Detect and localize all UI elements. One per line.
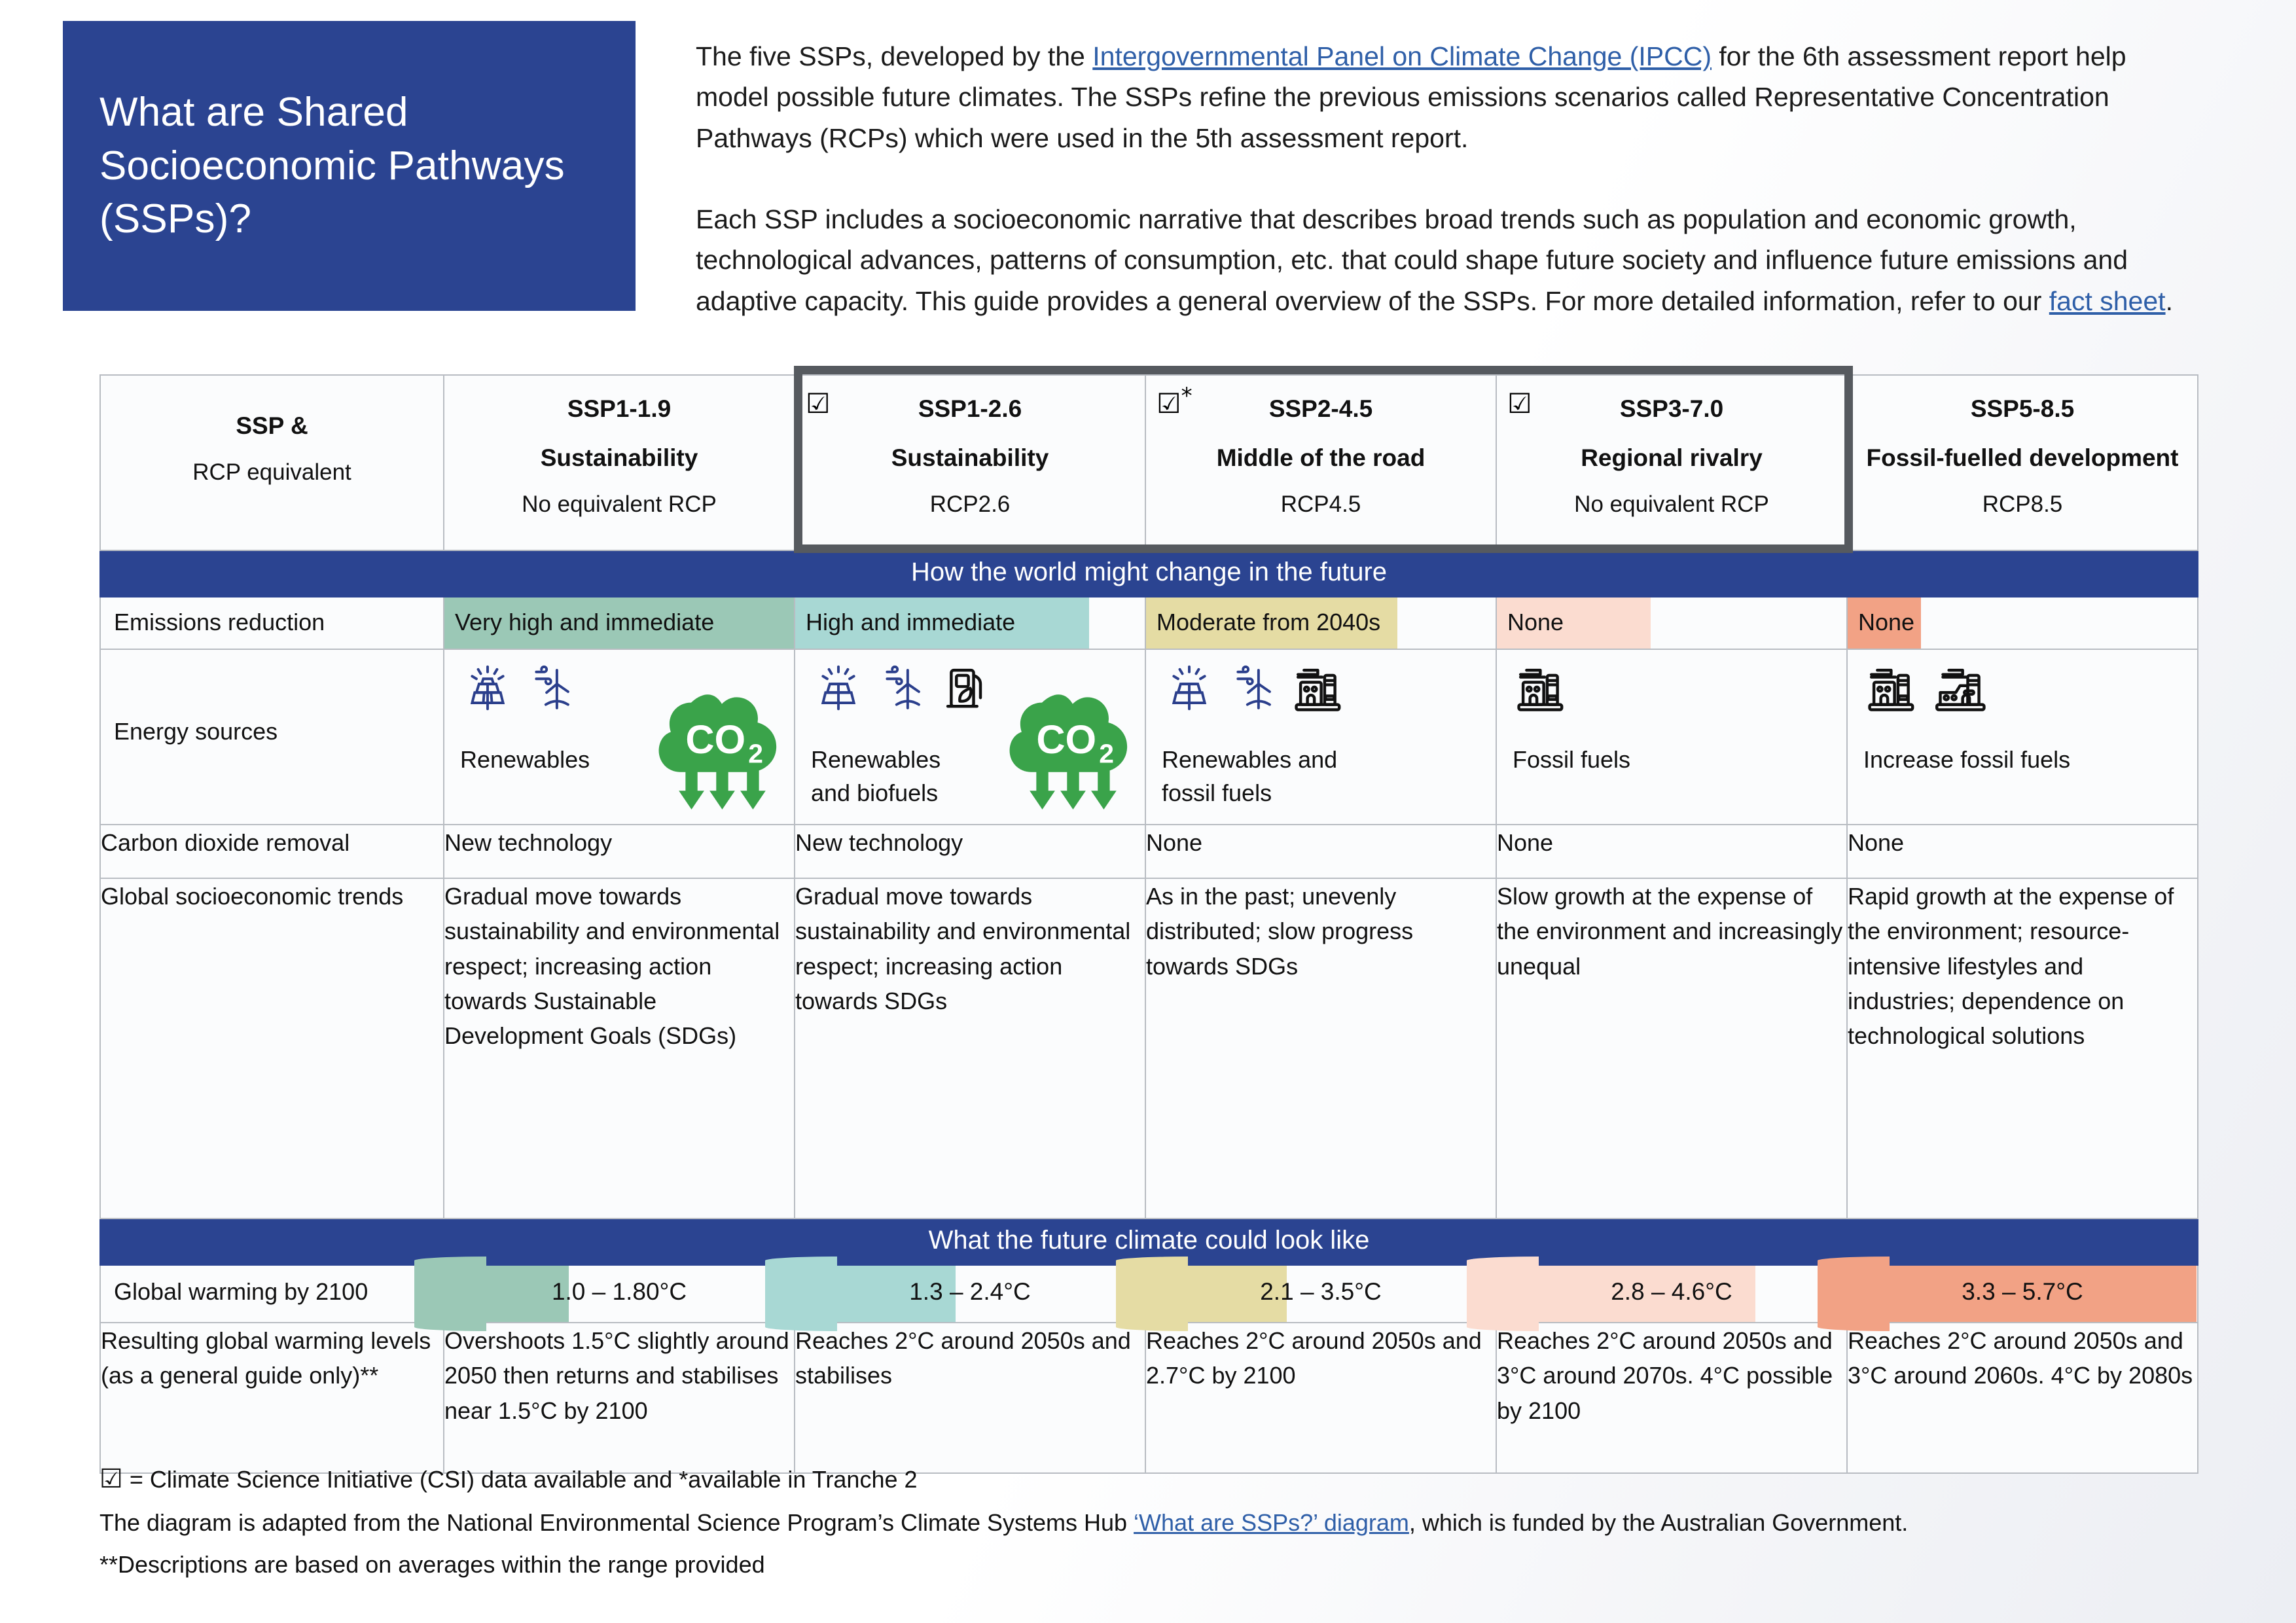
intro-paragraph-1: The five SSPs, developed by the Intergov… xyxy=(696,36,2201,158)
cell-cdr-ssp1-1-9: New technology xyxy=(444,825,795,878)
svg-text:2: 2 xyxy=(748,738,763,768)
cell-levels-ssp1-1-9: Overshoots 1.5°C slightly around 2050 th… xyxy=(444,1323,795,1473)
cell-energy-ssp1-1-9: Renewables CO 2 xyxy=(444,649,795,825)
cell-warming-ssp2-4-5: 2.1 – 3.5°C xyxy=(1145,1265,1496,1323)
emissions-value: Moderate from 2040s xyxy=(1146,597,1496,636)
warming-label: Global warming by 2100 xyxy=(101,1266,443,1306)
warming-value: 2.8 – 4.6°C xyxy=(1497,1266,1846,1306)
banner-future-world: How the world might change in the future xyxy=(100,550,2198,597)
cell-trends-ssp3-7-0: Slow growth at the expense of the enviro… xyxy=(1496,878,1847,1219)
cell-warming-ssp5-8-5: 3.3 – 5.7°C xyxy=(1847,1265,2198,1323)
cell-emissions-ssp1-2-6: High and immediate xyxy=(795,597,1145,649)
energy-icon-group xyxy=(1513,662,1571,720)
emissions-value: High and immediate xyxy=(795,597,1145,636)
footnote-line-3: **Descriptions are based on averages wit… xyxy=(99,1547,2194,1583)
cell-energy-ssp3-7-0: Fossil fuels xyxy=(1496,649,1847,825)
column-header-ssp1-2-6[interactable]: ☑ SSP1-2.6 Sustainability RCP2.6 xyxy=(795,375,1145,550)
svg-text:CO: CO xyxy=(1036,717,1096,762)
ssp-rcp: No equivalent RCP xyxy=(1497,491,1846,518)
solar-panel-icon xyxy=(1162,662,1217,720)
footnote-line-1: ☑ = Climate Science Initiative (CSI) dat… xyxy=(99,1459,2194,1499)
corner-line-2: RCP equivalent xyxy=(101,459,443,486)
emissions-label: Emissions reduction xyxy=(101,597,443,636)
cell-cdr-ssp2-4-5: None xyxy=(1145,825,1496,878)
cell-emissions-ssp2-4-5: Moderate from 2040s xyxy=(1145,597,1496,649)
cell-levels-ssp5-8-5: Reaches 2°C around 2050s and 3°C around … xyxy=(1847,1323,2198,1473)
ssp-name: SSP2-4.5 xyxy=(1146,393,1496,425)
cell-trends-ssp1-1-9: Gradual move towards sustainability and … xyxy=(444,878,795,1219)
ssp-subtitle: Fossil-fuelled development xyxy=(1848,442,2197,474)
row-label-trends: Global socioeconomic trends xyxy=(100,878,444,1219)
energy-text: Renewables xyxy=(460,743,676,776)
cell-warming-ssp3-7-0: 2.8 – 4.6°C xyxy=(1496,1265,1847,1323)
wind-turbine-icon xyxy=(524,662,579,720)
energy-text: Fossil fuels xyxy=(1513,743,1729,776)
cell-trends-ssp5-8-5: Rapid growth at the expense of the envir… xyxy=(1847,878,2198,1219)
svg-text:CO: CO xyxy=(685,717,745,762)
ssp-name: SSP1-2.6 xyxy=(795,393,1145,425)
factory-wide-icon xyxy=(1931,662,1990,720)
column-header-ssp3-7-0[interactable]: ☑ SSP3-7.0 Regional rivalry No equivalen… xyxy=(1496,375,1847,550)
emissions-value: Very high and immediate xyxy=(444,597,794,636)
column-header-ssp5-8-5[interactable]: SSP5-8.5 Fossil-fuelled development RCP8… xyxy=(1847,375,2198,550)
factory-icon xyxy=(1863,662,1922,720)
solar-panel-icon xyxy=(460,662,515,720)
ssp-name: SSP1-1.9 xyxy=(444,393,794,425)
cell-trends-ssp1-2-6: Gradual move towards sustainability and … xyxy=(795,878,1145,1219)
ssp-name: SSP3-7.0 xyxy=(1497,393,1846,425)
cell-energy-ssp2-4-5: Renewables and fossil fuels xyxy=(1145,649,1496,825)
factory-icon xyxy=(1513,662,1571,720)
row-resulting-levels: Resulting global warming levels (as a ge… xyxy=(100,1323,2198,1473)
svg-text:2: 2 xyxy=(1099,738,1114,768)
wind-turbine-icon xyxy=(1226,662,1281,720)
emissions-value: None xyxy=(1848,597,2197,636)
title-block: What are Shared Socioeconomic Pathways (… xyxy=(63,21,636,311)
ssp-subtitle: Regional rivalry xyxy=(1497,442,1846,474)
cell-emissions-ssp5-8-5: None xyxy=(1847,597,2198,649)
page-title: What are Shared Socioeconomic Pathways (… xyxy=(63,86,636,246)
row-label-warming: Global warming by 2100 xyxy=(100,1265,444,1323)
row-label-energy: Energy sources xyxy=(100,649,444,825)
warming-value: 1.3 – 2.4°C xyxy=(795,1266,1145,1306)
intro-p2-part-a: Each SSP includes a socioeconomic narrat… xyxy=(696,204,2128,316)
row-energy-sources: Energy sources xyxy=(100,649,2198,825)
warming-value: 2.1 – 3.5°C xyxy=(1146,1266,1496,1306)
co2-reduction-icon: CO 2 xyxy=(656,684,790,818)
row-emissions-reduction: Emissions reduction Very high and immedi… xyxy=(100,597,2198,649)
ssp-comparison-table: SSP & RCP equivalent SSP1-1.9 Sustainabi… xyxy=(99,374,2198,1474)
footnote-line-2: The diagram is adapted from the National… xyxy=(99,1505,2194,1541)
column-header-ssp1-1-9[interactable]: SSP1-1.9 Sustainability No equivalent RC… xyxy=(444,375,795,550)
cell-emissions-ssp1-1-9: Very high and immediate xyxy=(444,597,795,649)
ssp-rcp: RCP2.6 xyxy=(795,491,1145,518)
ssp-name: SSP5-8.5 xyxy=(1848,393,2197,425)
ev-charger-icon xyxy=(939,662,994,720)
ssp-guide-page: What are Shared Socioeconomic Pathways (… xyxy=(0,0,2296,1623)
co2-reduction-icon: CO 2 xyxy=(1007,684,1141,818)
row-carbon-dioxide-removal: Carbon dioxide removal New technology Ne… xyxy=(100,825,2198,878)
cell-warming-ssp1-2-6: 1.3 – 2.4°C xyxy=(795,1265,1145,1323)
footnote-2-part-a: The diagram is adapted from the National… xyxy=(99,1509,1134,1536)
energy-text: Renewables and fossil fuels xyxy=(1162,743,1378,810)
table-header-row: SSP & RCP equivalent SSP1-1.9 Sustainabi… xyxy=(100,375,2198,550)
ssp-subtitle: Sustainability xyxy=(444,442,794,474)
cell-warming-ssp1-1-9: 1.0 – 1.80°C xyxy=(444,1265,795,1323)
footnotes: ☑ = Climate Science Initiative (CSI) dat… xyxy=(99,1459,2194,1588)
cell-levels-ssp1-2-6: Reaches 2°C around 2050s and stabilises xyxy=(795,1323,1145,1473)
fact-sheet-link[interactable]: fact sheet xyxy=(2049,286,2166,316)
cell-cdr-ssp5-8-5: None xyxy=(1847,825,2198,878)
cell-cdr-ssp1-2-6: New technology xyxy=(795,825,1145,878)
energy-icon-group xyxy=(1863,662,1990,720)
cell-levels-ssp3-7-0: Reaches 2°C around 2050s and 3°C around … xyxy=(1496,1323,1847,1473)
corner-line-1: SSP & xyxy=(101,410,443,442)
cell-levels-ssp2-4-5: Reaches 2°C around 2050s and 2.7°C by 21… xyxy=(1145,1323,1496,1473)
table-corner-cell: SSP & RCP equivalent xyxy=(100,375,444,550)
footnote-2-part-b: , which is funded by the Australian Gove… xyxy=(1409,1509,1908,1536)
wind-turbine-icon xyxy=(875,662,930,720)
checkbox-icon: ☑ xyxy=(99,1464,123,1494)
row-label-cdr: Carbon dioxide removal xyxy=(100,825,444,878)
cell-emissions-ssp3-7-0: None xyxy=(1496,597,1847,649)
checkbox-icon: ☑ xyxy=(1507,385,1532,418)
warming-value: 3.3 – 5.7°C xyxy=(1848,1266,2197,1306)
footnote-1-text: = Climate Science Initiative (CSI) data … xyxy=(123,1466,918,1493)
solar-panel-icon xyxy=(811,662,866,720)
checkbox-icon: ☑ xyxy=(806,385,831,418)
ssp-diagram-link[interactable]: ‘What are SSPs?’ diagram xyxy=(1134,1509,1409,1536)
ssp-subtitle: Sustainability xyxy=(795,442,1145,474)
intro-p2-part-b: . xyxy=(2166,286,2173,316)
warming-value: 1.0 – 1.80°C xyxy=(444,1266,794,1306)
row-label-emissions: Emissions reduction xyxy=(100,597,444,649)
energy-icon-group xyxy=(1162,662,1349,720)
cell-trends-ssp2-4-5: As in the past; unevenly distributed; sl… xyxy=(1145,878,1496,1219)
banner-future-world-row: How the world might change in the future xyxy=(100,550,2198,597)
ssp-rcp: No equivalent RCP xyxy=(444,491,794,518)
energy-text: Increase fossil fuels xyxy=(1863,743,2079,776)
energy-text: Renewables and biofuels xyxy=(811,743,1027,810)
cell-energy-ssp1-2-6: Renewables and biofuels CO 2 xyxy=(795,649,1145,825)
intro-paragraph-2: Each SSP includes a socioeconomic narrat… xyxy=(696,199,2201,321)
intro-p1-part-a: The five SSPs, developed by the xyxy=(696,41,1092,71)
column-header-ssp2-4-5[interactable]: ☑* SSP2-4.5 Middle of the road RCP4.5 xyxy=(1145,375,1496,550)
energy-icon-group xyxy=(460,662,579,720)
ssp-subtitle: Middle of the road xyxy=(1146,442,1496,474)
ssp-rcp: RCP4.5 xyxy=(1146,491,1496,518)
cell-cdr-ssp3-7-0: None xyxy=(1496,825,1847,878)
checkbox-star-icon: ☑* xyxy=(1157,385,1193,418)
ssp-rcp: RCP8.5 xyxy=(1848,491,2197,518)
row-global-warming: Global warming by 2100 1.0 – 1.80°C 1.3 … xyxy=(100,1265,2198,1323)
energy-label: Energy sources xyxy=(114,718,278,745)
row-socioeconomic-trends: Global socioeconomic trends Gradual move… xyxy=(100,878,2198,1219)
energy-icon-group xyxy=(811,662,994,720)
cell-energy-ssp5-8-5: Increase fossil fuels xyxy=(1847,649,2198,825)
row-label-levels: Resulting global warming levels (as a ge… xyxy=(100,1323,444,1473)
ipcc-link[interactable]: Intergovernmental Panel on Climate Chang… xyxy=(1092,41,1712,71)
emissions-value: None xyxy=(1497,597,1846,636)
factory-icon xyxy=(1290,662,1349,720)
intro-text: The five SSPs, developed by the Intergov… xyxy=(696,36,2201,321)
